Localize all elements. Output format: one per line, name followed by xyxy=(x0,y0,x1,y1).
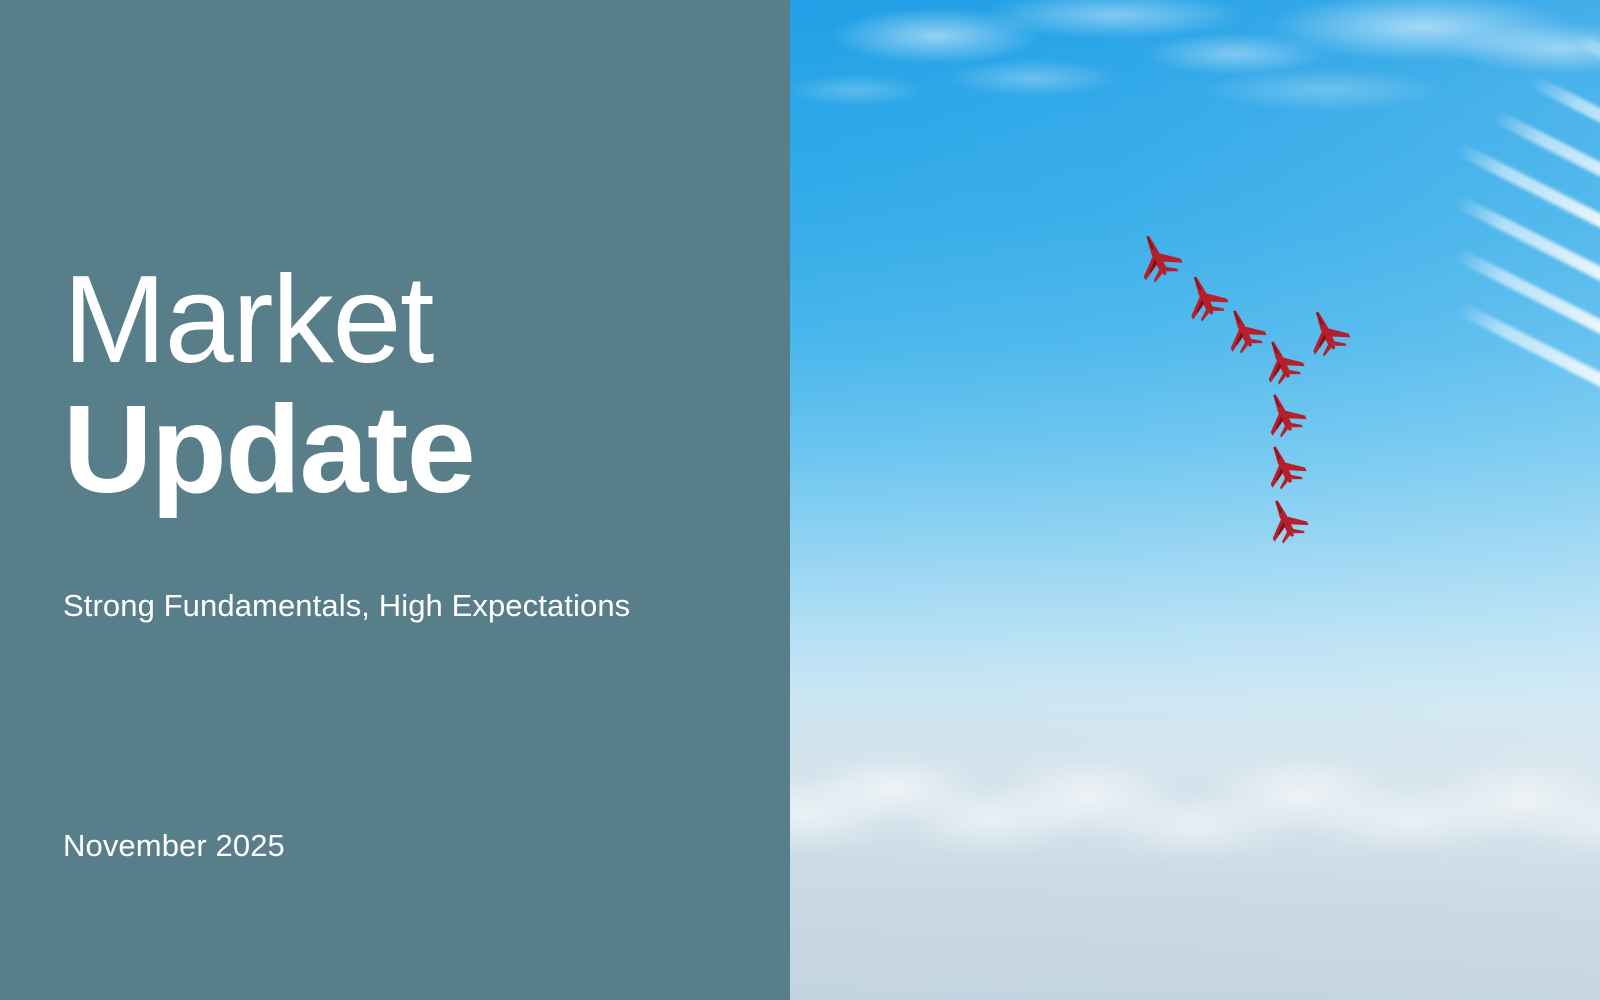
presentation-slide: Market Update Strong Fundamentals, High … xyxy=(0,0,1600,1000)
subtitle: Strong Fundamentals, High Expectations xyxy=(63,588,630,624)
title-line-market: Market xyxy=(63,258,474,382)
page-title: Market Update xyxy=(63,258,474,512)
title-panel: Market Update Strong Fundamentals, High … xyxy=(0,0,790,1000)
title-line-update: Update xyxy=(63,388,474,512)
smoke-trails-layer xyxy=(790,0,1600,1000)
cover-photo xyxy=(790,0,1600,1000)
trail-7 xyxy=(1456,302,1600,550)
date-label: November 2025 xyxy=(63,828,285,864)
